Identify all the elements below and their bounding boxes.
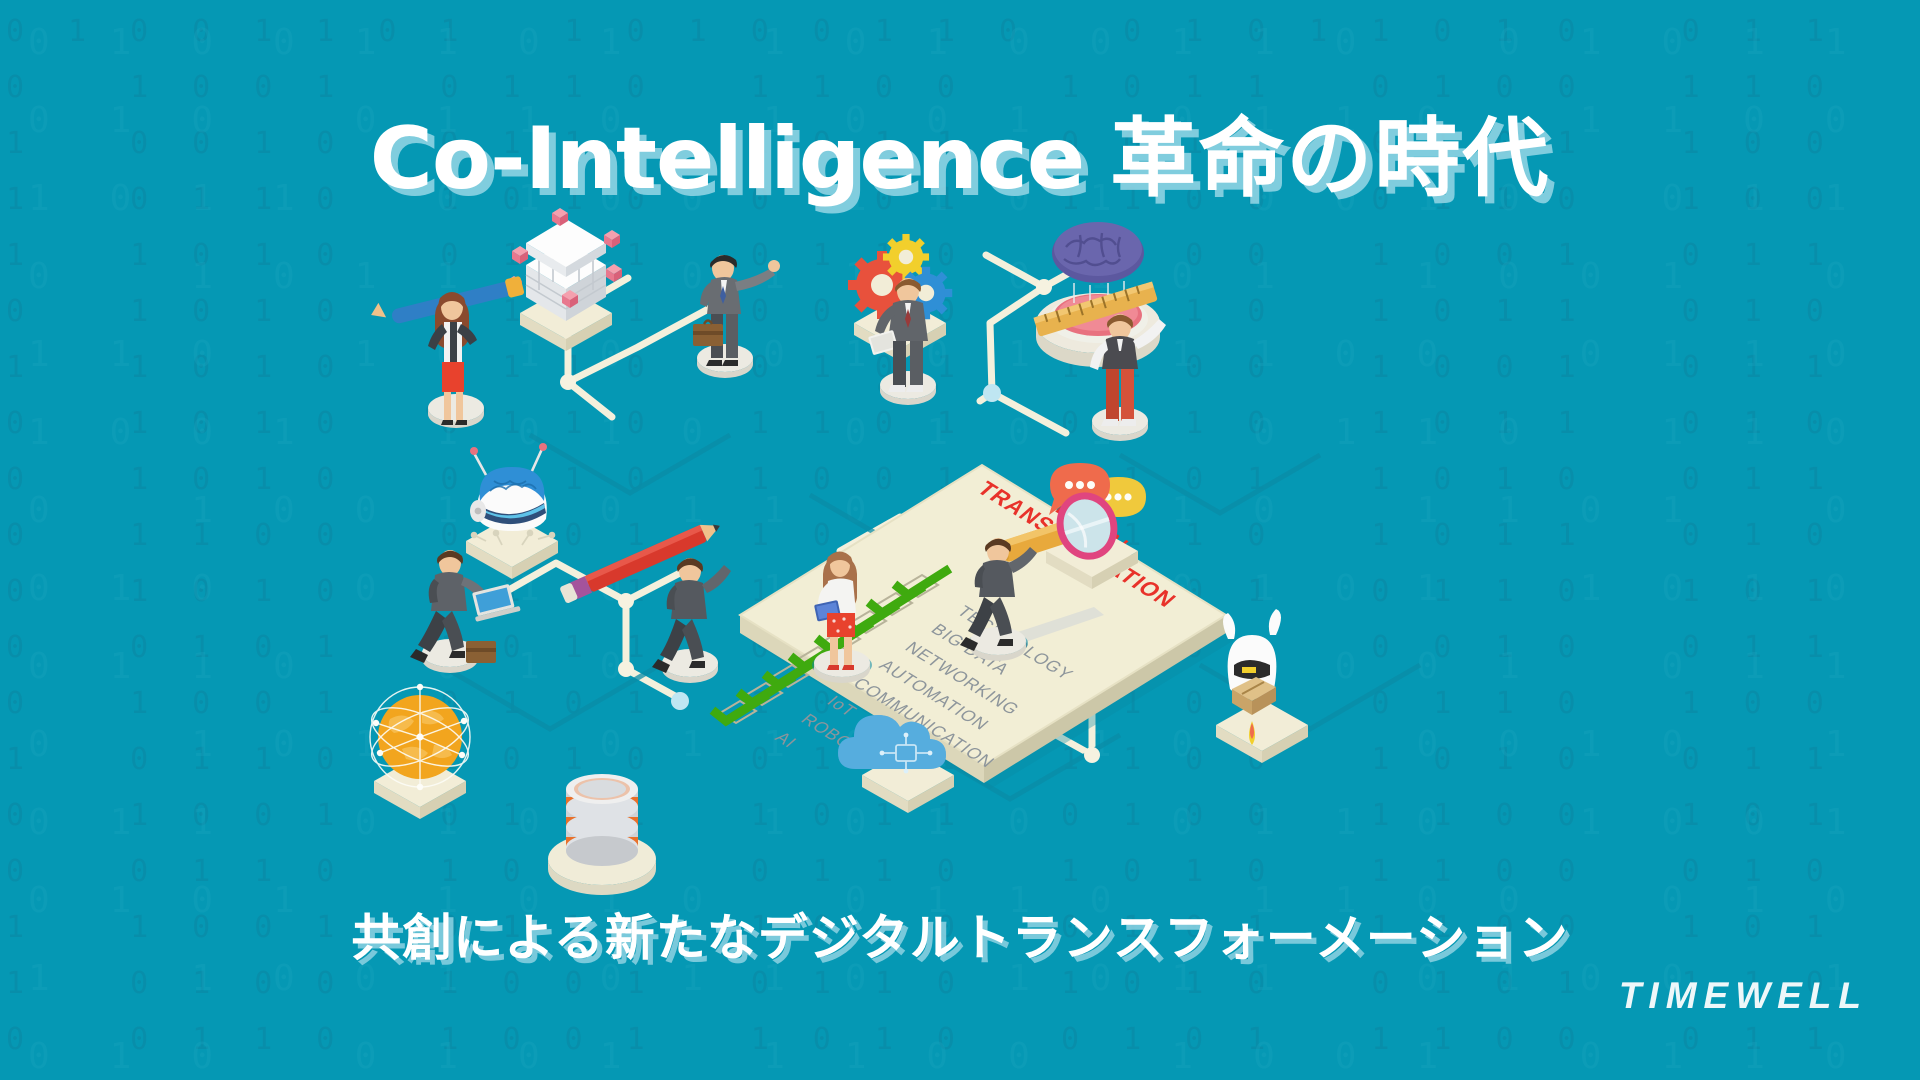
brand-logo: TIMEWELL [1619,975,1868,1017]
checklist-row: AI [716,697,802,751]
person-man-pencil-red [559,518,731,683]
delivery-robot-node [1216,609,1308,763]
person-man-pointing [693,255,780,378]
database-stack-node [548,774,656,895]
page-title: Co-Intelligence革命の時代 [0,88,1920,213]
poster-canvas: 01001101 10100110 01011010 0110 1001 011… [0,0,1920,1080]
person-woman-pencil-blue [369,276,525,428]
globe-node [364,684,477,819]
isometric-illustration: DIGITAL TRANSFORMATION TECHNOLOGY [380,195,1580,855]
checklist-label: AI [771,728,802,751]
ai-robot-head-node [466,443,558,579]
page-subtitle: 共創による新たなデジタルトランスフォーメーション [0,898,1920,970]
page-title-jp: 革命の時代 [1110,111,1550,207]
blockchain-cubes-node [506,208,622,351]
page-title-en: Co-Intelligence [370,109,1084,209]
